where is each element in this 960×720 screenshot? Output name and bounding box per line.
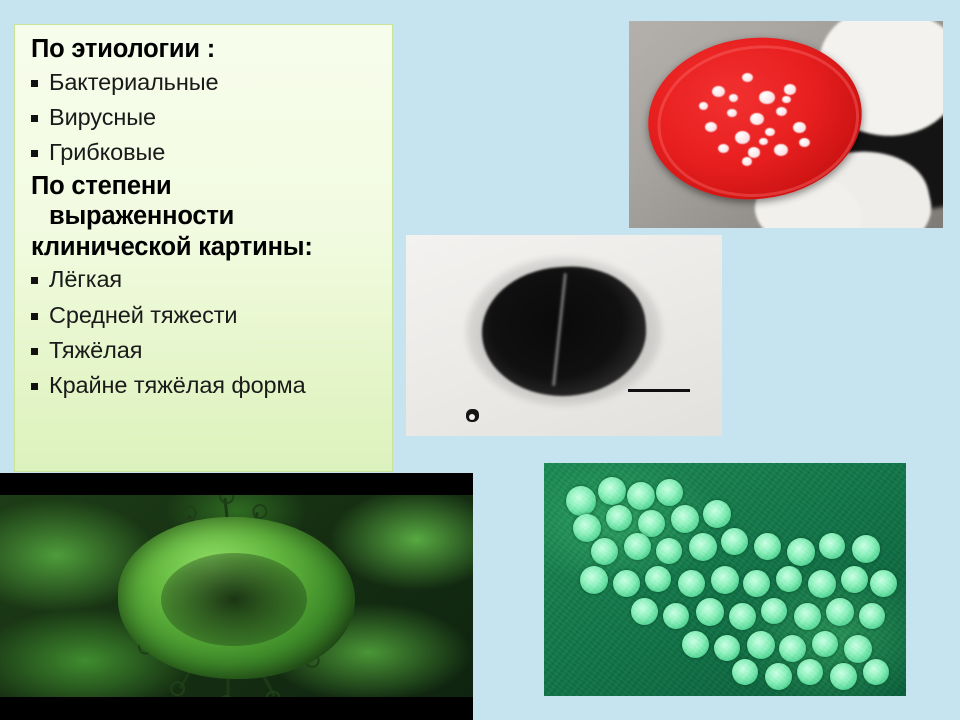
heading-by-severity-line3: клинической картины: [31, 233, 386, 262]
bacterial-colony [729, 94, 738, 102]
list-item-severe: Тяжёлая [25, 334, 386, 367]
list-item-label: Крайне тяжёлая форма [49, 369, 306, 402]
heading-by-etiology: По этиологии : [31, 35, 386, 64]
render-viewport [0, 495, 473, 697]
scale-bar [628, 389, 690, 392]
virus-capsid [118, 517, 355, 679]
square-bullet-icon [31, 378, 49, 393]
list-item-bacterial: Бактериальные [25, 66, 386, 99]
bacterial-colony [727, 109, 737, 118]
square-bullet-icon [31, 145, 49, 160]
slide-canvas: По этиологии : Бактериальные Вирусные Гр… [0, 0, 960, 720]
petri-dish-blood-agar-photo [629, 21, 943, 228]
list-item-viral: Вирусные [25, 101, 386, 134]
square-bullet-icon [31, 308, 49, 323]
bacterial-colony [742, 157, 752, 166]
list-item-label: Грибковые [49, 136, 165, 169]
heading-by-severity-line2: выраженности [49, 202, 386, 231]
bacterial-colony [793, 122, 806, 133]
bacterial-colony [712, 86, 725, 97]
square-bullet-icon [31, 343, 49, 358]
electron-micrograph-virion-photo [406, 235, 722, 436]
micrograph-grain-overlay [544, 463, 906, 696]
square-bullet-icon [31, 75, 49, 90]
list-item-label: Лёгкая [49, 263, 122, 296]
list-item-label: Тяжёлая [49, 334, 142, 367]
classification-text-panel: По этиологии : Бактериальные Вирусные Гр… [14, 24, 393, 472]
virus-3d-render-photo [0, 473, 473, 720]
list-item-label: Бактериальные [49, 66, 218, 99]
stain-artifact [466, 409, 479, 422]
virus-cluster-micrograph-photo [544, 463, 906, 696]
list-item-fungal: Грибковые [25, 136, 386, 169]
list-item-moderate: Средней тяжести [25, 299, 386, 332]
bacterial-colony [774, 144, 788, 156]
list-item-mild: Лёгкая [25, 263, 386, 296]
bacterial-colony [748, 147, 760, 157]
bacterial-colony [759, 138, 768, 146]
list-item-extremely-severe: Крайне тяжёлая форма [25, 369, 386, 402]
list-item-label: Вирусные [49, 101, 156, 134]
square-bullet-icon [31, 110, 49, 125]
square-bullet-icon [31, 272, 49, 287]
list-item-label: Средней тяжести [49, 299, 237, 332]
heading-by-severity-line1: По степени [31, 172, 386, 201]
bacterial-colony [784, 84, 796, 94]
virus-spike [227, 677, 230, 697]
bacterial-colony [699, 102, 708, 110]
